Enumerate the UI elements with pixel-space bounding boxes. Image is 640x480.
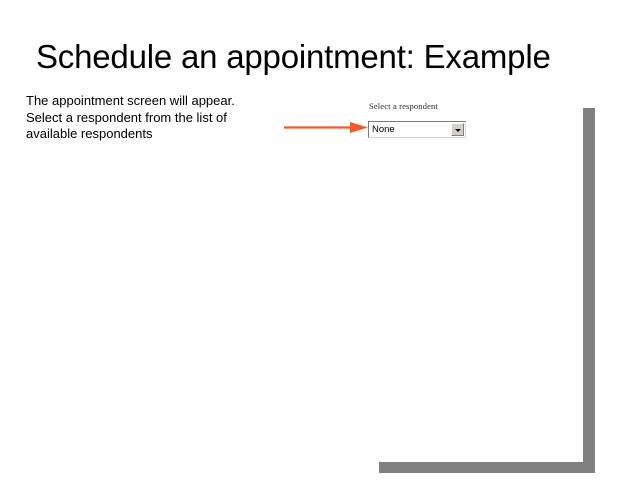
presentation-slide: Schedule an appointment: Example The app… xyxy=(0,0,640,480)
chevron-down-icon[interactable] xyxy=(451,123,464,136)
caret-glyph xyxy=(455,129,461,132)
select-respondent-label: Select a respondent xyxy=(369,101,438,111)
screenshot-content: Select a respondent None xyxy=(368,97,583,462)
annotation-arrow-icon xyxy=(280,118,372,138)
respondent-dropdown[interactable]: None xyxy=(368,121,466,138)
slide-body-text: The appointment screen will appear. Sele… xyxy=(26,93,256,143)
respondent-dropdown-value: None xyxy=(372,124,395,136)
embedded-screenshot: Select a respondent None xyxy=(368,97,583,462)
page-title: Schedule an appointment: Example xyxy=(36,38,616,76)
